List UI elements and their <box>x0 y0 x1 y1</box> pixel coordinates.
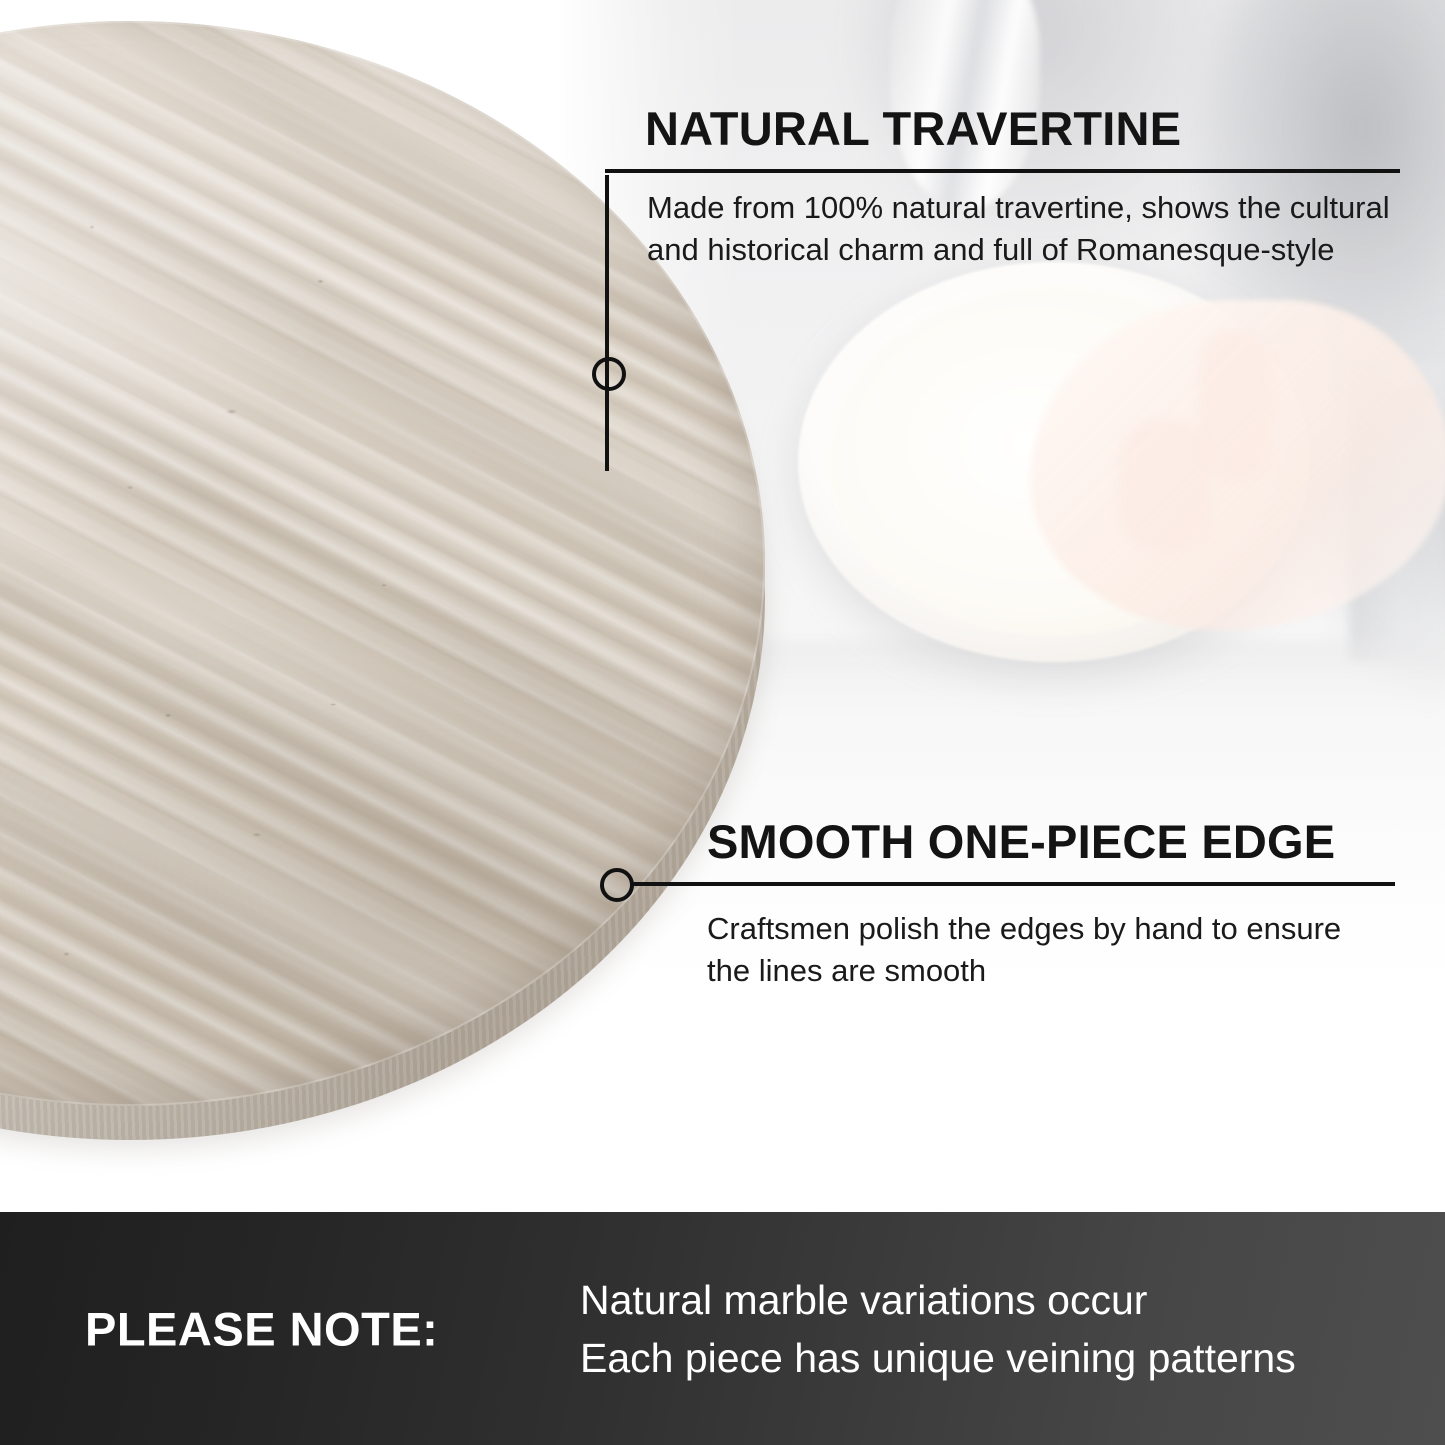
callout-body-text: Made from 100% natural travertine, shows… <box>647 187 1392 270</box>
background-finger <box>1120 420 1210 550</box>
please-note-label: PLEASE NOTE: <box>85 1301 438 1356</box>
callout-title: NATURAL TRAVERTINE <box>645 105 1405 152</box>
please-note-text: Natural marble variations occur Each pie… <box>580 1270 1296 1386</box>
callout-smooth-one-piece-edge: SMOOTH ONE-PIECE EDGE Craftsmen polish t… <box>600 818 1400 991</box>
please-note-line-2: Each piece has unique veining patterns <box>580 1329 1296 1387</box>
please-note-line-1: Natural marble variations occur <box>580 1270 1296 1328</box>
background-finger <box>1200 330 1270 480</box>
callout-divider <box>605 169 1400 173</box>
leader-line-vertical <box>605 175 609 471</box>
please-note-banner: PLEASE NOTE: Natural marble variations o… <box>0 1212 1445 1445</box>
product-infographic: NATURAL TRAVERTINE Made from 100% natura… <box>0 0 1445 1445</box>
callout-divider <box>633 882 1395 886</box>
callout-body-text: Craftsmen polish the edges by hand to en… <box>707 908 1347 991</box>
callout-title: SMOOTH ONE-PIECE EDGE <box>707 818 1400 865</box>
leader-endpoint-circle-icon <box>592 357 626 391</box>
leader-endpoint-circle-icon <box>600 868 634 902</box>
callout-natural-travertine: NATURAL TRAVERTINE Made from 100% natura… <box>605 105 1405 270</box>
